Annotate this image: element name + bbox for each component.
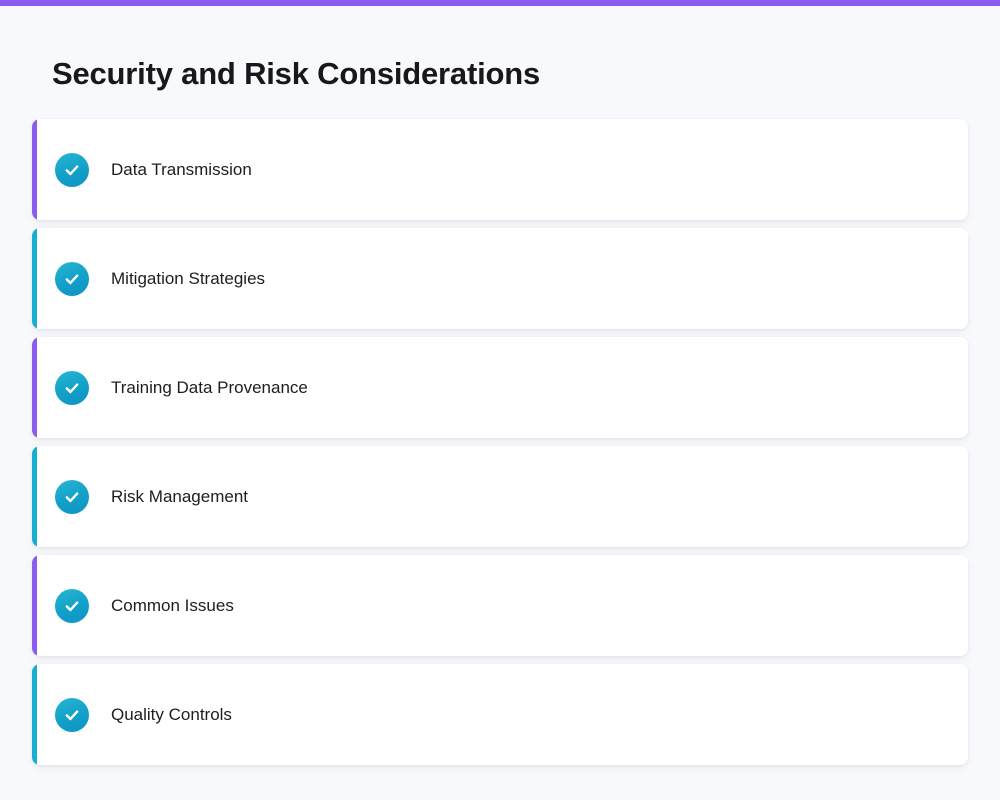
check-circle-icon[interactable] xyxy=(55,698,89,732)
check-circle-icon[interactable] xyxy=(55,589,89,623)
card-accent-stripe xyxy=(32,119,37,220)
card-accent-stripe xyxy=(32,555,37,656)
list-item[interactable]: Training Data Provenance xyxy=(32,337,968,438)
list-item-label: Quality Controls xyxy=(111,704,232,726)
card-accent-stripe xyxy=(32,228,37,329)
check-circle-icon[interactable] xyxy=(55,262,89,296)
card-accent-stripe xyxy=(32,446,37,547)
card-accent-stripe xyxy=(32,664,37,765)
list-item-label: Risk Management xyxy=(111,486,248,508)
card-accent-stripe xyxy=(32,337,37,438)
list-item-label: Common Issues xyxy=(111,595,234,617)
check-circle-icon[interactable] xyxy=(55,371,89,405)
list-item[interactable]: Mitigation Strategies xyxy=(32,228,968,329)
list-item-label: Data Transmission xyxy=(111,159,252,181)
list-item[interactable]: Quality Controls xyxy=(32,664,968,765)
list-item[interactable]: Common Issues xyxy=(32,555,968,656)
page-title: Security and Risk Considerations xyxy=(52,54,540,94)
list-item-label: Training Data Provenance xyxy=(111,377,308,399)
list-item[interactable]: Risk Management xyxy=(32,446,968,547)
list-item-label: Mitigation Strategies xyxy=(111,268,265,290)
list-item[interactable]: Data Transmission xyxy=(32,119,968,220)
top-accent-bar xyxy=(0,0,1000,6)
checklist-container: Data Transmission Mitigation Strategies … xyxy=(32,119,968,773)
check-circle-icon[interactable] xyxy=(55,153,89,187)
check-circle-icon[interactable] xyxy=(55,480,89,514)
